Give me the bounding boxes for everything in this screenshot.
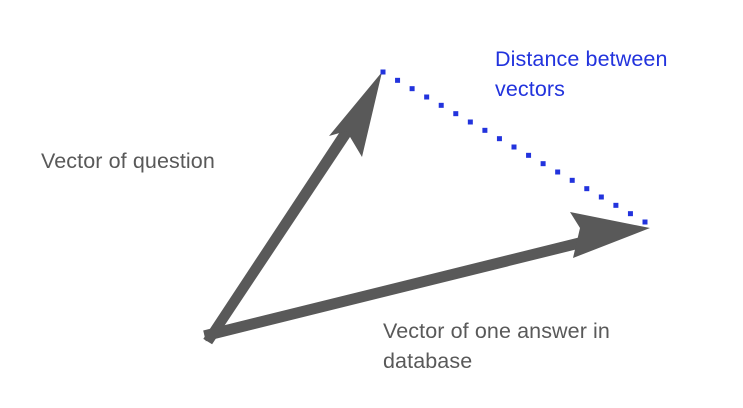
distance-label: Distance between vectors [495,44,710,104]
distance-dot [381,70,386,75]
distance-dot [599,195,604,200]
vector-question-shaft [203,115,360,344]
distance-dot [512,145,517,150]
distance-dot [643,220,648,225]
diagram-canvas: Vector of question Vector of one answer … [0,0,743,408]
distance-dot [628,211,633,216]
distance-dot [395,78,400,83]
vector-question-label: Vector of question [41,146,215,176]
distance-dot [468,120,473,125]
distance-dot [555,170,560,175]
distance-dot [613,203,618,208]
vector-answer-label: Vector of one answer in database [383,316,683,376]
distance-dot [584,186,589,191]
distance-dot [541,161,546,166]
distance-dot [482,128,487,133]
vector-answer-arrowhead [570,212,650,258]
distance-dot [453,111,458,116]
distance-dot [570,178,575,183]
distance-dot [410,86,415,91]
distance-dot [526,153,531,158]
distance-dot [439,103,444,108]
distance-dot [497,136,502,141]
distance-dot [424,95,429,100]
